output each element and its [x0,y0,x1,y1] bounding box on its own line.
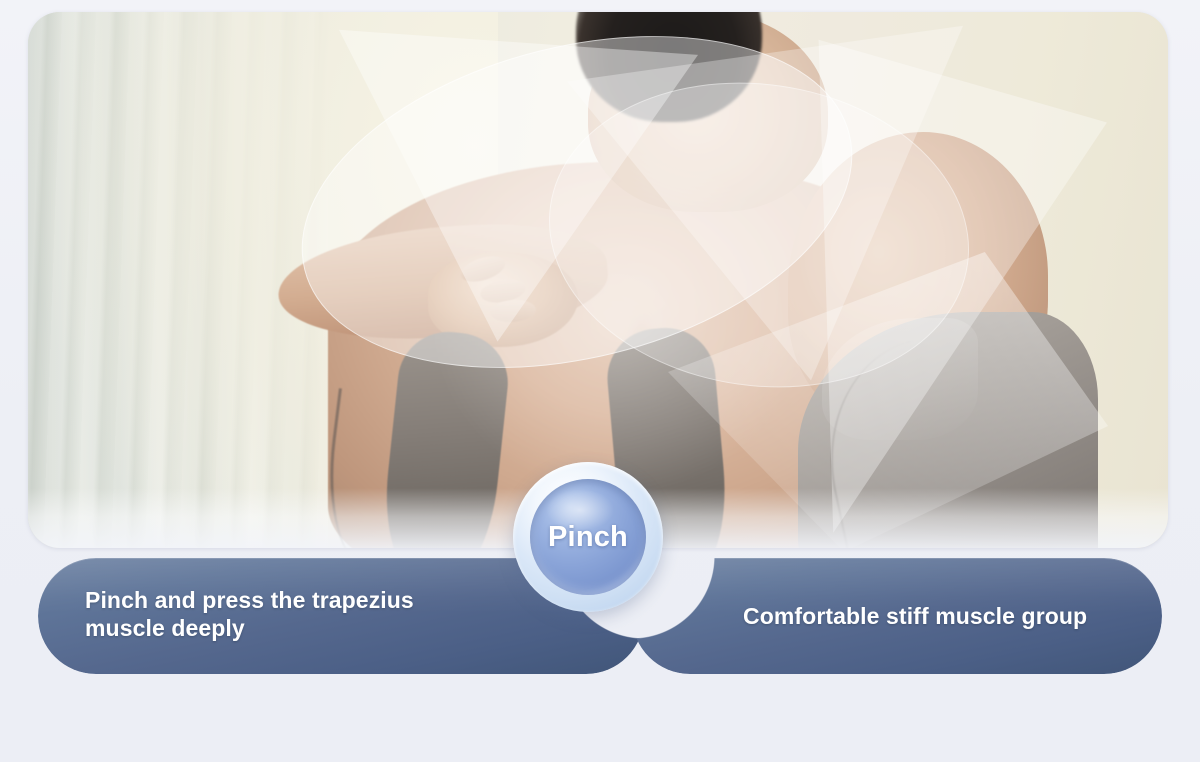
caption-text-left: Pinch and press the trapezius muscle dee… [85,586,505,642]
caption-text-right: Comfortable stiff muscle group [743,602,1162,630]
feature-badge-label: Pinch [548,521,628,554]
caption-bar-right: Comfortable stiff muscle group [632,558,1162,674]
feature-banner: Pinch and press the trapezius muscle dee… [0,0,1200,762]
feature-badge-inner: Pinch [530,479,646,595]
feature-badge: Pinch [513,462,663,612]
